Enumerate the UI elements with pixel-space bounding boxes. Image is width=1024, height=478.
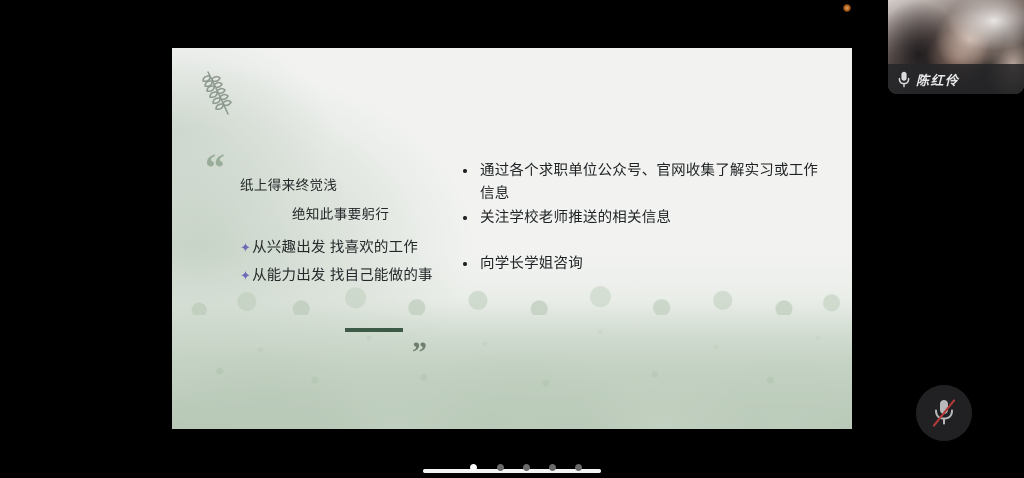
bullet-item-3: 向学长学姐咨询 bbox=[458, 253, 822, 276]
star-marker-icon: ✦ bbox=[240, 240, 251, 255]
watercolor-speckle-texture bbox=[172, 277, 852, 429]
slide-dot-2[interactable] bbox=[497, 464, 504, 471]
participant-video-tile[interactable]: 陈红伶 bbox=[888, 0, 1024, 94]
recording-indicator-led bbox=[843, 4, 851, 12]
star-marker-icon: ✦ bbox=[240, 268, 251, 283]
slide-dot-5[interactable] bbox=[575, 464, 582, 471]
microphone-icon bbox=[898, 71, 910, 88]
slide-right-column: 通过各个求职单位公众号、官网收集了解实习或工作信息 关注学校老师推送的相关信息 … bbox=[458, 160, 822, 277]
shared-screen-slide[interactable]: “ ” 纸上得来终觉浅 绝知此事要躬行 ✦从兴趣出发 找喜欢的工作 ✦从能力出发… bbox=[172, 48, 852, 429]
video-conference-window: “ ” 纸上得来终觉浅 绝知此事要躬行 ✦从兴趣出发 找喜欢的工作 ✦从能力出发… bbox=[0, 0, 1024, 478]
left-point-2-label: 从能力出发 找自己能做的事 bbox=[252, 268, 433, 284]
slide-progress-indicator[interactable] bbox=[423, 469, 601, 473]
participant-name-bar: 陈红伶 bbox=[888, 64, 1024, 94]
bullet-item-1: 通过各个求职单位公众号、官网收集了解实习或工作信息 bbox=[458, 160, 822, 206]
bullet-list: 通过各个求职单位公众号、官网收集了解实习或工作信息 关注学校老师推送的相关信息 … bbox=[458, 160, 822, 276]
mute-toggle-button[interactable] bbox=[916, 385, 972, 441]
slide-dot-4[interactable] bbox=[549, 464, 556, 471]
microphone-muted-icon bbox=[930, 397, 958, 429]
bullet-item-2: 关注学校老师推送的相关信息 bbox=[458, 207, 822, 230]
divider-bar bbox=[345, 328, 403, 332]
left-point-1-label: 从兴趣出发 找喜欢的工作 bbox=[252, 240, 418, 256]
quote-open-mark: “ bbox=[205, 148, 224, 188]
quote-close-mark: ” bbox=[412, 338, 426, 368]
slide-dot-1[interactable] bbox=[470, 464, 477, 471]
slide-dot-3[interactable] bbox=[523, 464, 530, 471]
leaf-branch-icon bbox=[198, 66, 246, 122]
watercolor-foliage-near bbox=[172, 299, 852, 429]
participant-name-label: 陈红伶 bbox=[916, 70, 960, 89]
